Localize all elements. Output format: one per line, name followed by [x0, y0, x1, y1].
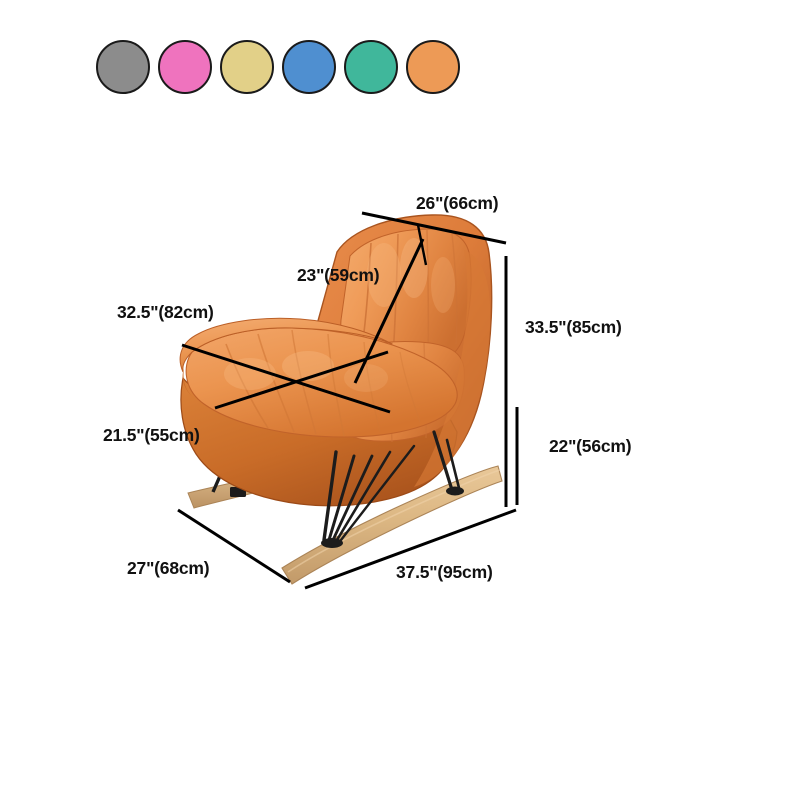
chair-base-pod	[181, 378, 457, 506]
chair-svg	[0, 0, 800, 800]
dimension-label-length: 37.5"(95cm)	[396, 562, 493, 583]
color-swatch-yellow[interactable]	[220, 40, 274, 94]
seat-cushion	[186, 328, 457, 437]
right-rear-leg	[434, 432, 464, 496]
color-swatch-gray[interactable]	[96, 40, 150, 94]
dimline-width-top	[362, 213, 506, 243]
back-cushion-upper	[341, 229, 471, 365]
chair-arm-left	[180, 318, 392, 400]
dimension-label-seat-depth: 32.5"(82cm)	[117, 302, 214, 323]
rocker-runner-rear	[188, 470, 293, 508]
dimension-label-total-height: 33.5"(85cm)	[525, 317, 622, 338]
dimension-label-width-top: 26"(66cm)	[416, 193, 498, 214]
color-swatch-row	[96, 40, 460, 94]
dimline-seat-depth	[182, 345, 390, 412]
dimension-label-back-height: 23"(59cm)	[297, 265, 379, 286]
chair-wing-right	[414, 250, 490, 487]
color-swatch-teal[interactable]	[344, 40, 398, 94]
product-dimension-diagram: 26"(66cm) 23"(59cm) 32.5"(82cm) 33.5"(85…	[0, 0, 800, 800]
color-swatch-blue[interactable]	[282, 40, 336, 94]
chair-illustration	[0, 0, 800, 800]
tick-width-top	[418, 225, 426, 265]
back-cushion-lower	[331, 342, 464, 442]
dimline-arm-height	[215, 352, 388, 408]
dimension-label-depth-bottom: 27"(68cm)	[127, 558, 209, 579]
dimline-back-height	[355, 239, 423, 383]
rear-legs	[213, 430, 276, 497]
dimension-label-arm-height: 21.5"(55cm)	[103, 425, 200, 446]
chair-back-shell	[282, 215, 492, 502]
color-swatch-pink[interactable]	[158, 40, 212, 94]
dimension-label-seat-height: 22"(56cm)	[549, 436, 631, 457]
color-swatch-orange[interactable]	[406, 40, 460, 94]
front-legs	[321, 446, 414, 548]
